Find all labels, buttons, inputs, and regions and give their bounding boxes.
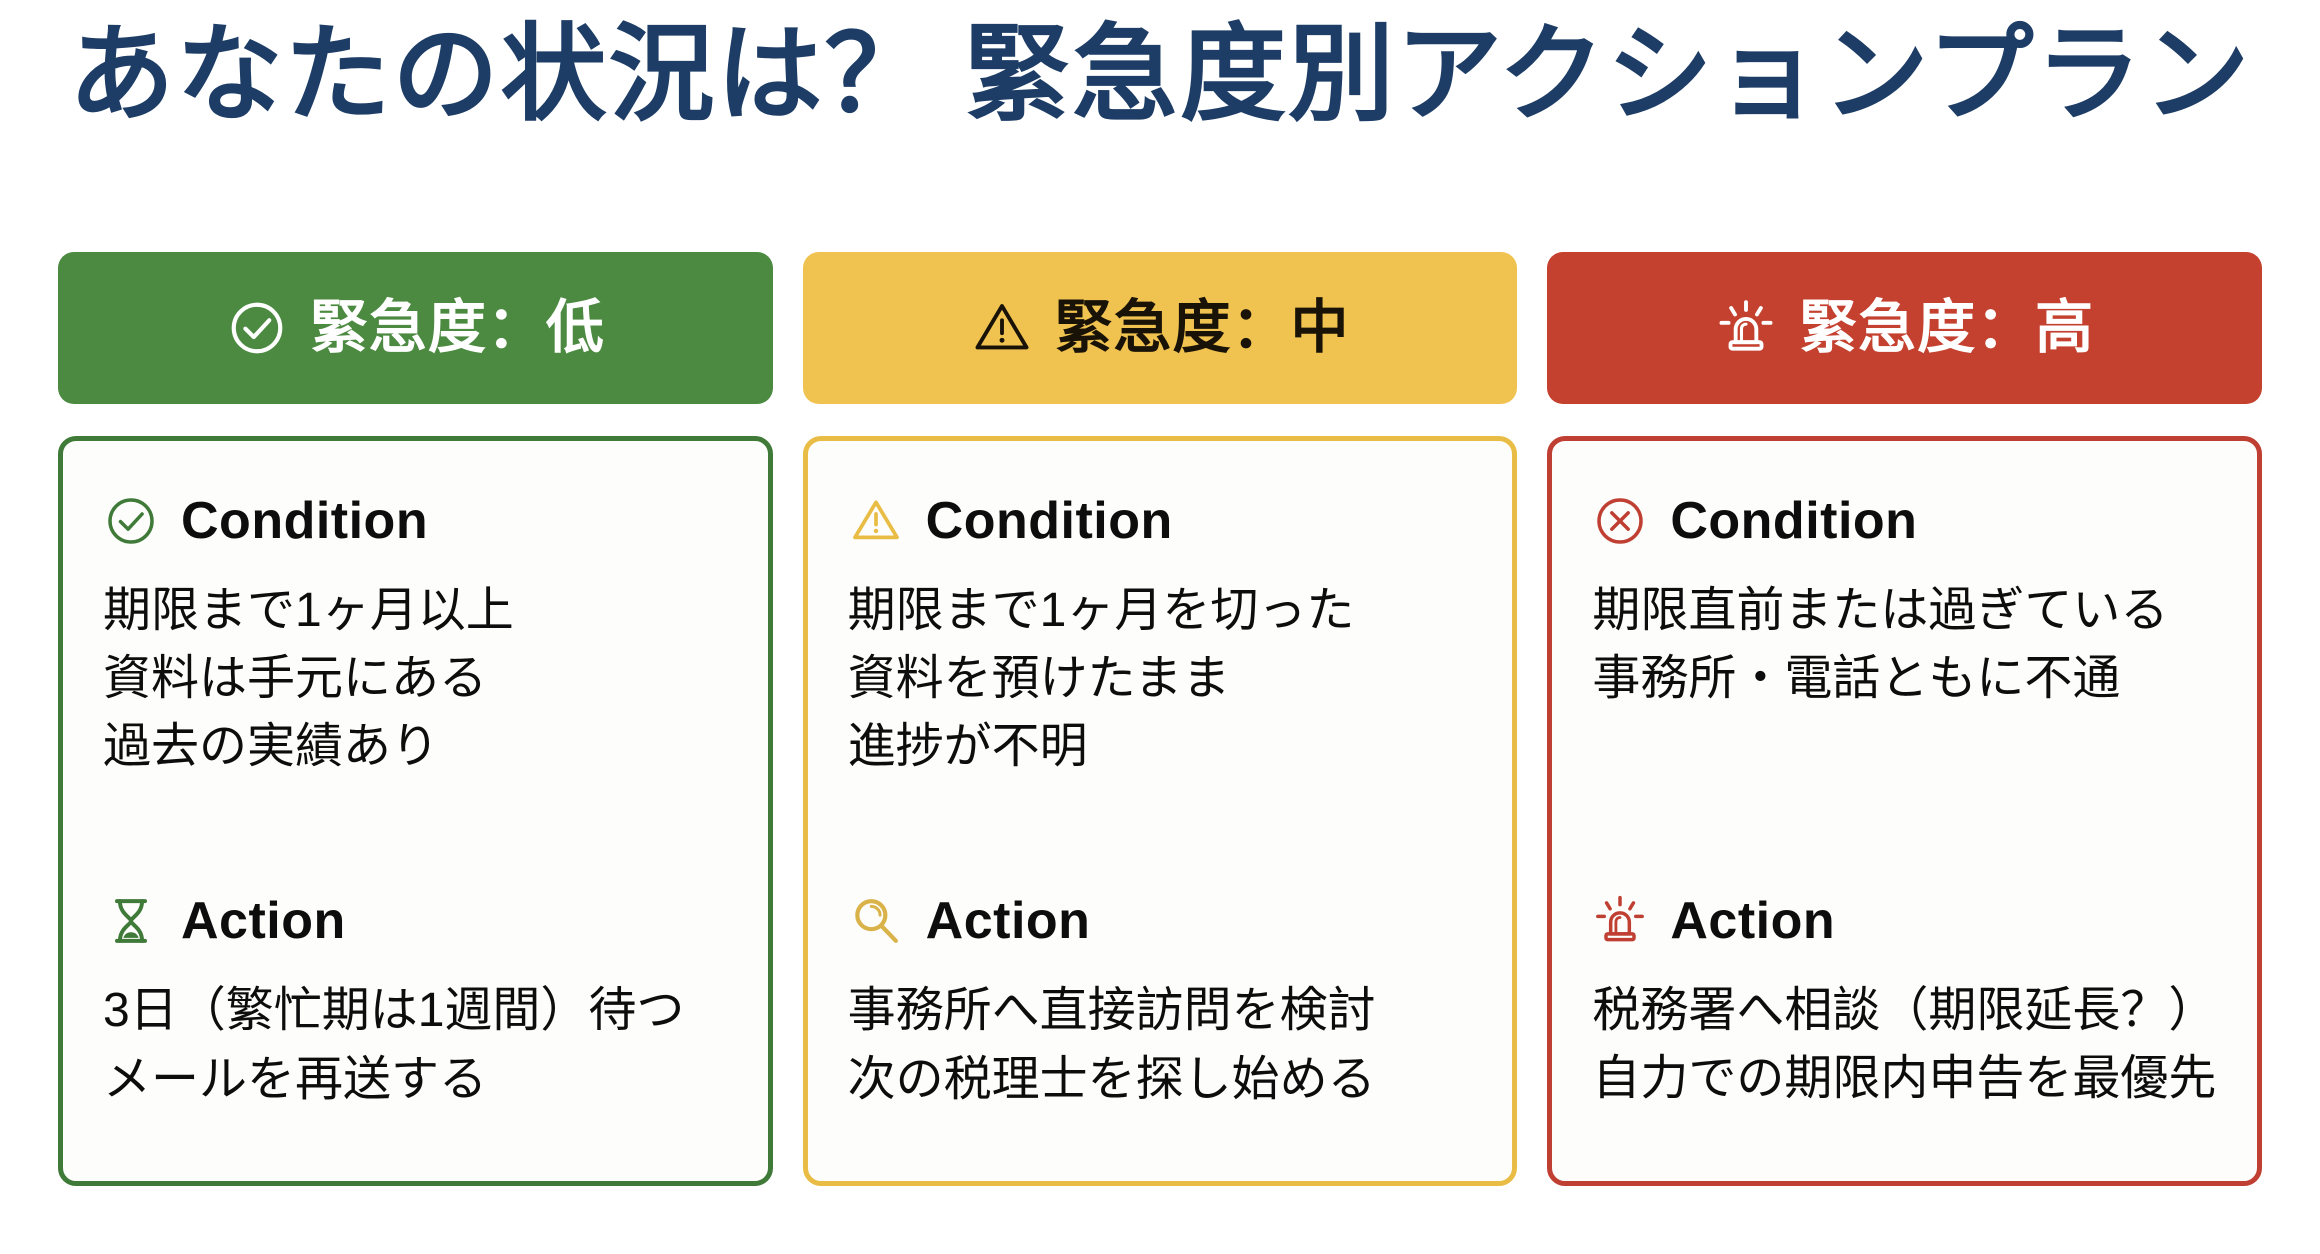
action-heading-high: Action [1592,893,2217,949]
condition-line: 期限まで1ヶ月を切った [848,577,1473,645]
condition-line: 事務所・電話ともに不通 [1592,645,2217,713]
condition-title-low: Condition [181,495,428,547]
condition-line: 資料は手元にある [103,645,728,713]
section-action-mid: Action 事務所へ直接訪問を検討 次の税理士を探し始める [848,893,1473,1113]
section-condition-mid: Condition 期限まで1ヶ月を切った 資料を預けたまま 進捗が不明 [848,493,1473,781]
check-circle-icon [226,297,288,359]
header-urgency-high: 緊急度：高 [1547,252,2262,404]
hourglass-icon [103,893,159,949]
condition-lines-high: 期限直前または過ぎている 事務所・電話ともに不通 [1592,577,2217,713]
condition-heading-low: Condition [103,493,728,549]
action-line: 事務所へ直接訪問を検討 [848,977,1473,1045]
action-lines-high: 税務署へ相談（期限延長？） 自力での期限内申告を最優先 [1592,977,2217,1113]
action-line: 3日（繁忙期は1週間）待つ [103,977,728,1045]
condition-heading-high: Condition [1592,493,2217,549]
card-urgency-mid: Condition 期限まで1ヶ月を切った 資料を預けたまま 進捗が不明 [803,436,1518,1186]
section-action-low: Action 3日（繁忙期は1週間）待つ メールを再送する [103,893,728,1113]
condition-lines-mid: 期限まで1ヶ月を切った 資料を預けたまま 進捗が不明 [848,577,1473,781]
card-urgency-low: Condition 期限まで1ヶ月以上 資料は手元にある 過去の実績あり [58,436,773,1186]
section-action-high: Action 税務署へ相談（期限延長？） 自力での期限内申告を最優先 [1592,893,2217,1113]
action-line: メールを再送する [103,1046,728,1114]
condition-title-high: Condition [1670,495,1917,547]
condition-line: 進捗が不明 [848,713,1473,781]
check-circle-icon [103,493,159,549]
header-label-high: 緊急度：高 [1799,299,2094,357]
action-heading-low: Action [103,893,728,949]
condition-line: 期限まで1ヶ月以上 [103,577,728,645]
warning-triangle-icon [848,493,904,549]
header-urgency-mid: 緊急度：中 [803,252,1518,404]
section-condition-low: Condition 期限まで1ヶ月以上 資料は手元にある 過去の実績あり [103,493,728,781]
condition-line: 期限直前または過ぎている [1592,577,2217,645]
header-urgency-low: 緊急度：低 [58,252,773,404]
condition-line: 資料を預けたまま [848,645,1473,713]
header-label-mid: 緊急度：中 [1055,299,1350,357]
action-title-low: Action [181,895,346,947]
action-title-high: Action [1670,895,1835,947]
siren-icon [1715,297,1777,359]
page-title: あなたの状況は？ 緊急度別アクションプラン [0,8,2320,144]
action-heading-mid: Action [848,893,1473,949]
action-line: 次の税理士を探し始める [848,1046,1473,1114]
header-label-low: 緊急度：低 [310,299,605,357]
condition-lines-low: 期限まで1ヶ月以上 資料は手元にある 過去の実績あり [103,577,728,781]
condition-heading-mid: Condition [848,493,1473,549]
warning-triangle-icon [971,297,1033,359]
siren-icon [1592,893,1648,949]
action-title-mid: Action [926,895,1091,947]
x-circle-icon [1592,493,1648,549]
column-urgency-low: 緊急度：低 Condition 期限まで1ヶ月以上 資料は手元にある 過 [58,252,773,1186]
column-urgency-mid: 緊急度：中 Condition 期限まで1ヶ月を切った 資料を [803,252,1518,1186]
card-urgency-high: Condition 期限直前または過ぎている 事務所・電話ともに不通 [1547,436,2262,1186]
urgency-columns: 緊急度：低 Condition 期限まで1ヶ月以上 資料は手元にある 過 [58,252,2262,1186]
section-condition-high: Condition 期限直前または過ぎている 事務所・電話ともに不通 [1592,493,2217,713]
action-line: 税務署へ相談（期限延長？） [1592,977,2217,1045]
magnifier-icon [848,893,904,949]
action-lines-low: 3日（繁忙期は1週間）待つ メールを再送する [103,977,728,1113]
action-line: 自力での期限内申告を最優先 [1592,1045,2217,1113]
column-urgency-high: 緊急度：高 Condition 期限直前または過ぎている 事務 [1547,252,2262,1186]
condition-line: 過去の実績あり [103,713,728,781]
condition-title-mid: Condition [926,495,1173,547]
action-lines-mid: 事務所へ直接訪問を検討 次の税理士を探し始める [848,977,1473,1113]
